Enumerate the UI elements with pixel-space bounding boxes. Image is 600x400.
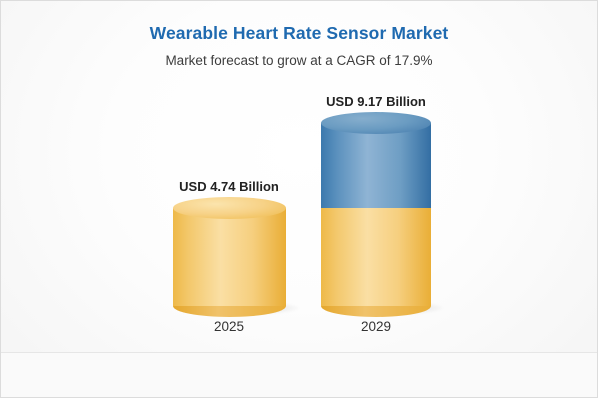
footer-bar: https://www.researchandmarkets.com/repor…	[1, 353, 597, 398]
bar-segment-growth-2029	[321, 123, 431, 208]
category-label-2029: 2029	[276, 319, 476, 334]
bar-top-ellipse-2025	[173, 197, 286, 219]
chart-card: Wearable Heart Rate Sensor Market Market…	[0, 0, 598, 398]
bar-body-2025	[173, 208, 286, 306]
bar-value-label-2025: USD 4.74 Billion	[129, 179, 329, 194]
bar-top-ellipse-2029	[321, 112, 431, 134]
bar-segment-base-2029	[321, 208, 431, 306]
bar-cylinder-2025[interactable]	[173, 208, 286, 306]
chart-plot-area: USD 4.74 Billion 2025 USD 9.17 Billion	[1, 1, 598, 351]
bar-value-label-2029: USD 9.17 Billion	[276, 94, 476, 109]
bar-cylinder-2029[interactable]	[321, 123, 431, 306]
